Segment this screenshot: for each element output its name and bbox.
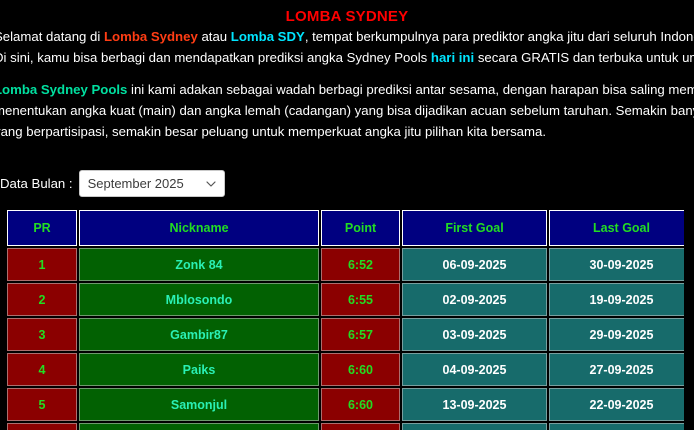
cell-point: 6:57 xyxy=(321,318,400,351)
link-lomba-sydney-pools[interactable]: Lomba Sydney Pools xyxy=(0,82,127,97)
cell-pr: 5 xyxy=(7,388,77,421)
column-header-nickname[interactable]: Nickname xyxy=(79,210,319,246)
link-lomba-sydney[interactable]: Lomba Sydney xyxy=(104,29,198,44)
cell-nickname: Gambir87 xyxy=(79,318,319,351)
month-select[interactable]: September 2025 xyxy=(79,170,225,197)
table-row[interactable]: 2 Mblosondo 6:55 02-09-2025 19-09-2025 xyxy=(7,283,684,316)
cell-point: 6:60 xyxy=(321,388,400,421)
leaderboard-table-wrapper: PR Nickname Point First Goal Last Goal 1… xyxy=(5,208,684,430)
table-row[interactable]: 4 Paiks 6:60 04-09-2025 27-09-2025 xyxy=(7,353,684,386)
table-row[interactable]: 1 Zonk 84 6:52 06-09-2025 30-09-2025 xyxy=(7,248,684,281)
cell-point: 6:55 xyxy=(321,283,400,316)
cell-first-goal: 02-09-2025 xyxy=(402,283,547,316)
table-body: 1 Zonk 84 6:52 06-09-2025 30-09-2025 2 M… xyxy=(7,248,684,430)
link-hari-ini[interactable]: hari ini xyxy=(431,50,474,65)
cell-pr: 1 xyxy=(7,248,77,281)
cell-point xyxy=(321,423,400,430)
table-row[interactable]: 3 Gambir87 6:57 03-09-2025 29-09-2025 xyxy=(7,318,684,351)
cell-last-goal: 19-09-2025 xyxy=(549,283,684,316)
cell-pr: 4 xyxy=(7,353,77,386)
intro-line-1-text-b: atau xyxy=(198,29,231,44)
intro-line-1: Selamat datang di Lomba Sydney atau Lomb… xyxy=(0,26,694,47)
intro-line-3: Lomba Sydney Pools ini kami adakan sebag… xyxy=(0,79,694,100)
cell-first-goal: 03-09-2025 xyxy=(402,318,547,351)
intro-line-3-text-a: ini kami adakan sebagai wadah berbagi pr… xyxy=(127,82,694,97)
table-header-row: PR Nickname Point First Goal Last Goal xyxy=(7,210,684,246)
cell-last-goal xyxy=(549,423,684,430)
intro-line-5: yang berpartisipasi, semakin besar pelua… xyxy=(0,121,546,142)
column-header-pr[interactable]: PR xyxy=(7,210,77,246)
month-select-value: September 2025 xyxy=(88,176,202,191)
cell-pr: 2 xyxy=(7,283,77,316)
cell-pr: 3 xyxy=(7,318,77,351)
column-header-first-goal[interactable]: First Goal xyxy=(402,210,547,246)
month-filter-label: Data Bulan : xyxy=(0,176,73,191)
cell-first-goal: 04-09-2025 xyxy=(402,353,547,386)
column-header-last-goal[interactable]: Last Goal xyxy=(549,210,684,246)
cell-first-goal: 13-09-2025 xyxy=(402,388,547,421)
intro-line-2-text-b: secara GRATIS dan terbuka untuk umum. xyxy=(474,50,694,65)
intro-line-2: Di sini, kamu bisa berbagi dan mendapatk… xyxy=(0,47,694,68)
cell-nickname: Mblosondo xyxy=(79,283,319,316)
cell-nickname xyxy=(79,423,319,430)
leaderboard-table: PR Nickname Point First Goal Last Goal 1… xyxy=(5,208,684,430)
link-lomba-sdy[interactable]: Lomba SDY xyxy=(231,29,305,44)
cell-last-goal: 27-09-2025 xyxy=(549,353,684,386)
table-head: PR Nickname Point First Goal Last Goal xyxy=(7,210,684,246)
cell-nickname: Samonjul xyxy=(79,388,319,421)
intro-line-1-text-c: , tempat berkumpulnya para prediktor ang… xyxy=(305,29,694,44)
page-root: LOMBA SYDNEY Selamat datang di Lomba Syd… xyxy=(0,0,694,430)
intro-line-2-text-a: Di sini, kamu bisa berbagi dan mendapatk… xyxy=(0,50,431,65)
cell-pr xyxy=(7,423,77,430)
cell-last-goal: 29-09-2025 xyxy=(549,318,684,351)
page-title: LOMBA SYDNEY xyxy=(0,0,694,26)
cell-first-goal: 06-09-2025 xyxy=(402,248,547,281)
cell-nickname: Zonk 84 xyxy=(79,248,319,281)
intro-line-1-text-a: Selamat datang di xyxy=(0,29,104,44)
month-filter-row: Data Bulan : September 2025 xyxy=(0,170,225,197)
intro-line-4: menentukan angka kuat (main) dan angka l… xyxy=(0,100,694,121)
cell-last-goal: 22-09-2025 xyxy=(549,388,684,421)
table-row[interactable] xyxy=(7,423,684,430)
table-row[interactable]: 5 Samonjul 6:60 13-09-2025 22-09-2025 xyxy=(7,388,684,421)
column-header-point[interactable]: Point xyxy=(321,210,400,246)
chevron-down-icon xyxy=(206,179,216,189)
cell-last-goal: 30-09-2025 xyxy=(549,248,684,281)
cell-point: 6:52 xyxy=(321,248,400,281)
cell-nickname: Paiks xyxy=(79,353,319,386)
cell-first-goal xyxy=(402,423,547,430)
cell-point: 6:60 xyxy=(321,353,400,386)
